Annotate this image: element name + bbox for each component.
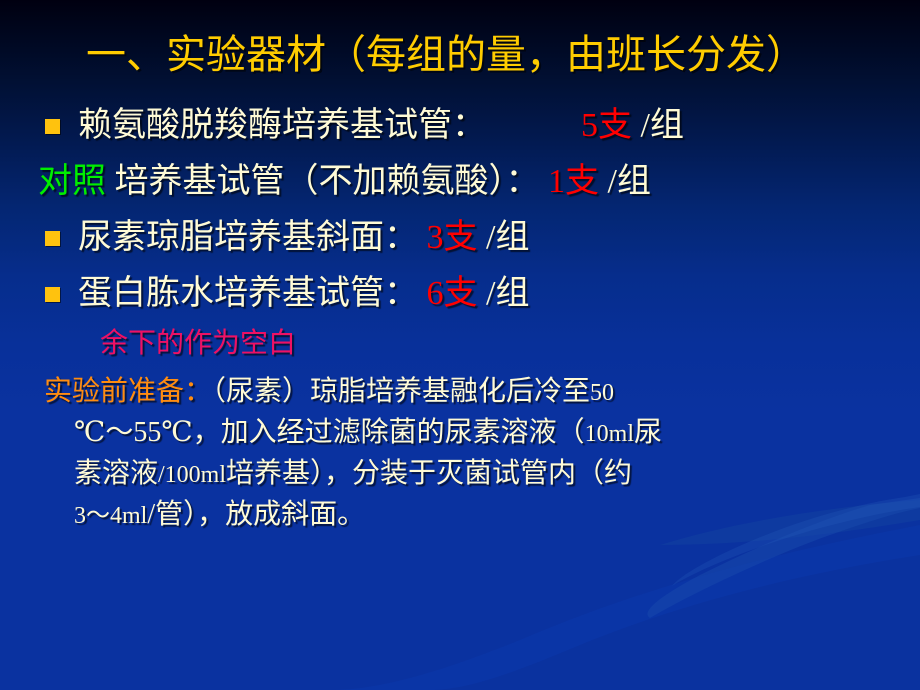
preparation-line4-rest: /管），放成斜面。 <box>147 499 365 530</box>
preparation-line3-b: 培养基），分装于灭菌试管内（约 <box>226 458 632 489</box>
preparation-heading: 实验前准备： <box>44 376 212 407</box>
preparation-line1-num: 50 <box>590 380 614 406</box>
item3-unit: /组 <box>486 219 529 256</box>
list-item: 赖氨酸脱羧酶培养基试管： 5支 /组 <box>0 98 920 154</box>
square-bullet-icon <box>45 231 60 246</box>
blank-note: 余下的作为空白 <box>0 322 920 366</box>
item2-qty: 1支 <box>548 163 599 200</box>
preparation-line-2: ℃～55℃，加入经过滤除菌的尿素溶液（10ml尿 <box>44 413 900 454</box>
item3-label: 尿素琼脂培养基斜面： <box>78 219 418 256</box>
slide-canvas: 一、实验器材（每组的量，由班长分发） 赖氨酸脱羧酶培养基试管： 5支 /组 对照… <box>0 0 920 690</box>
square-bullet-icon <box>45 119 60 134</box>
item1-unit: /组 <box>641 107 684 144</box>
preparation-line-3: 素溶液/100ml培养基），分装于灭菌试管内（约 <box>44 454 900 495</box>
preparation-line1-rest: （尿素）琼脂培养基融化后冷至 <box>212 376 590 407</box>
square-bullet-icon <box>45 287 60 302</box>
item2-label: 培养基试管（不加赖氨酸）： <box>115 163 540 200</box>
item3-qty: 3支 <box>427 219 478 256</box>
item4-unit: /组 <box>486 275 529 312</box>
list-item: 蛋白胨水培养基试管： 6支 /组 <box>0 266 920 322</box>
item2-unit: /组 <box>608 163 651 200</box>
preparation-line-1: 实验前准备：（尿素）琼脂培养基融化后冷至50 <box>44 372 900 413</box>
item4-label: 蛋白胨水培养基试管： <box>78 275 418 312</box>
item4-qty: 6支 <box>427 275 478 312</box>
item1-label: 赖氨酸脱羧酶培养基试管： <box>78 107 486 144</box>
list-item: 对照 培养基试管（不加赖氨酸）： 1支 /组 <box>0 154 920 210</box>
preparation-line3-a: 素溶液 <box>74 458 158 489</box>
preparation-line2-text: ℃～55℃，加入经过滤除菌的尿素溶液（ <box>74 417 585 448</box>
preparation-line3-num: /100ml <box>158 462 226 488</box>
preparation-line-4: 3～4ml/管），放成斜面。 <box>44 495 900 536</box>
item2-prefix: 对照 <box>38 163 106 200</box>
page-title: 一、实验器材（每组的量，由班长分发） <box>86 32 806 78</box>
preparation-line2-tail: 尿 <box>634 417 662 448</box>
item1-qty: 5支 <box>581 107 632 144</box>
body-content: 赖氨酸脱羧酶培养基试管： 5支 /组 对照 培养基试管（不加赖氨酸）： 1支 /… <box>0 98 920 536</box>
list-item: 尿素琼脂培养基斜面： 3支 /组 <box>0 210 920 266</box>
preparation-line2-num: 10ml <box>585 421 634 447</box>
preparation-line4-num: 3～4ml <box>74 503 147 529</box>
preparation-paragraph: 实验前准备：（尿素）琼脂培养基融化后冷至50 ℃～55℃，加入经过滤除菌的尿素溶… <box>0 372 900 536</box>
